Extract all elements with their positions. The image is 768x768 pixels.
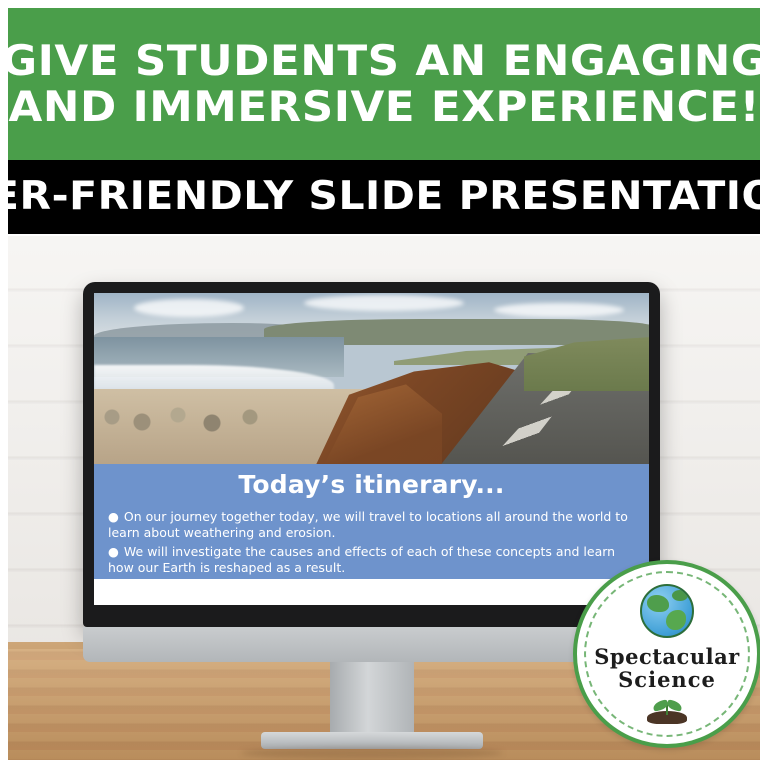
slide-title: Today’s itinerary... [238, 470, 504, 499]
slide-bullet-2: ●We will investigate the causes and effe… [108, 544, 635, 576]
globe-landmass [666, 610, 686, 630]
slide-image-coastal-erosion [94, 293, 649, 464]
presentation-slide: Today’s itinerary... ●On our journey tog… [94, 293, 649, 605]
cloud-icon [134, 299, 244, 317]
monitor-screen: Today’s itinerary... ●On our journey tog… [94, 293, 649, 605]
roadside-grass [524, 337, 649, 391]
monitor-shadow [241, 747, 503, 759]
subtitle-text: User-Friendly Slide Presentations [0, 176, 768, 218]
bullet-marker-icon: ● [108, 544, 119, 560]
cloud-icon [304, 295, 464, 311]
slide-bottom-margin [94, 579, 649, 605]
headline-banner: Give Students an Engaging and Immersive … [8, 8, 760, 160]
globe-landmass [672, 590, 688, 601]
brand-logo: Spectacular Science [573, 560, 760, 748]
beach-rocks [100, 405, 290, 433]
brand-name-line-2: Science [618, 667, 716, 692]
brand-name-line-1: Spectacular [594, 644, 740, 669]
monitor-stand-neck [330, 662, 414, 735]
globe-landmass [647, 595, 669, 612]
sprout-leaf-right [666, 699, 683, 711]
promo-graphic: Give Students an Engaging and Immersive … [0, 0, 768, 768]
globe-icon [640, 584, 694, 638]
subtitle-bar: User-Friendly Slide Presentations [8, 160, 760, 234]
slide-body: ●On our journey together today, we will … [94, 505, 649, 579]
bullet-marker-icon: ● [108, 509, 119, 525]
slide-bullet-2-text: We will investigate the causes and effec… [108, 544, 615, 575]
slide-bullet-1: ●On our journey together today, we will … [108, 509, 635, 541]
headline-line-1: Give Students an Engaging [1, 38, 767, 84]
product-photo: Today’s itinerary... ●On our journey tog… [8, 236, 760, 760]
slide-title-band: Today’s itinerary... [94, 464, 649, 505]
cloud-icon [494, 303, 624, 317]
slide-bullet-1-text: On our journey together today, we will t… [108, 509, 628, 540]
monitor-bezel: Today’s itinerary... ●On our journey tog… [83, 282, 660, 627]
sprout-icon [644, 696, 690, 724]
headline-line-2: and Immersive Experience! [8, 84, 760, 130]
